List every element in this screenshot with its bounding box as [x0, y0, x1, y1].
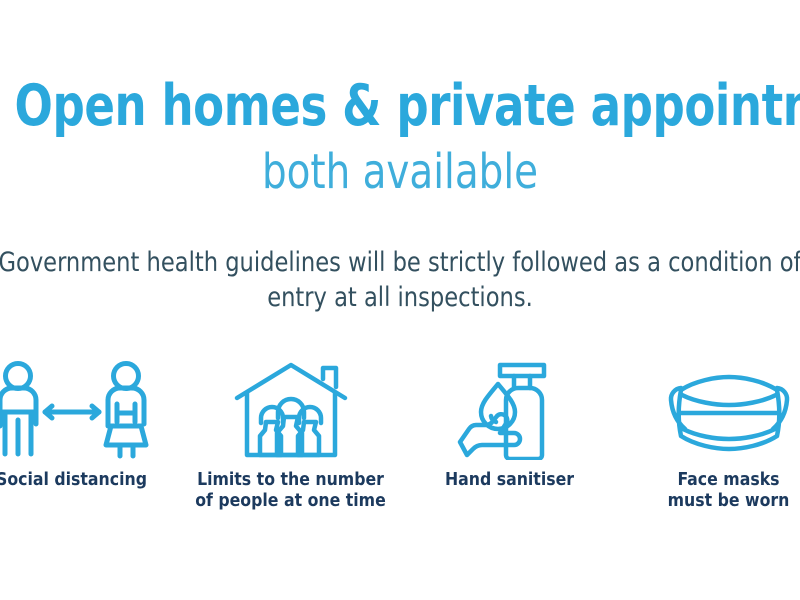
body-copy-line-2: entry at all inspections.: [0, 281, 800, 316]
body-copy-line-1: Government health guidelines will be str…: [0, 246, 800, 281]
measure-caption-line-1: Hand sanitiser: [400, 470, 619, 491]
safety-measures-row: Social distancing: [0, 358, 800, 533]
measure-item-face-mask: Face masks must be worn: [619, 358, 800, 533]
measure-item-people-limit: Limits to the number of people at one ti…: [181, 358, 400, 533]
page-title: Open homes & private appointments: [15, 78, 786, 135]
measure-caption: Hand sanitiser: [400, 470, 619, 491]
poster-canvas: Open homes & private appointments both a…: [0, 0, 800, 600]
measure-caption: Limits to the number of people at one ti…: [181, 470, 400, 513]
measure-caption: Social distancing: [0, 470, 181, 491]
measure-item-hand-sanitiser: Hand sanitiser: [400, 358, 619, 533]
face-mask-icon: [619, 358, 800, 462]
social-distancing-icon: [0, 358, 181, 462]
measure-item-social-distancing: Social distancing: [0, 358, 181, 533]
measure-caption-line-2: of people at one time: [181, 491, 400, 512]
body-copy: Government health guidelines will be str…: [0, 246, 800, 315]
measure-caption-line-2: must be worn: [619, 491, 800, 512]
page-subtitle: both available: [6, 148, 794, 196]
measure-caption-line-1: Social distancing: [0, 470, 181, 491]
measure-caption-line-1: Face masks: [619, 470, 800, 491]
measure-caption-line-1: Limits to the number: [181, 470, 400, 491]
house-people-limit-icon: [181, 358, 400, 462]
hand-sanitiser-icon: [400, 358, 619, 462]
measure-caption: Face masks must be worn: [619, 470, 800, 513]
covid-safe-inspection-poster: Open homes & private appointments both a…: [0, 0, 800, 600]
